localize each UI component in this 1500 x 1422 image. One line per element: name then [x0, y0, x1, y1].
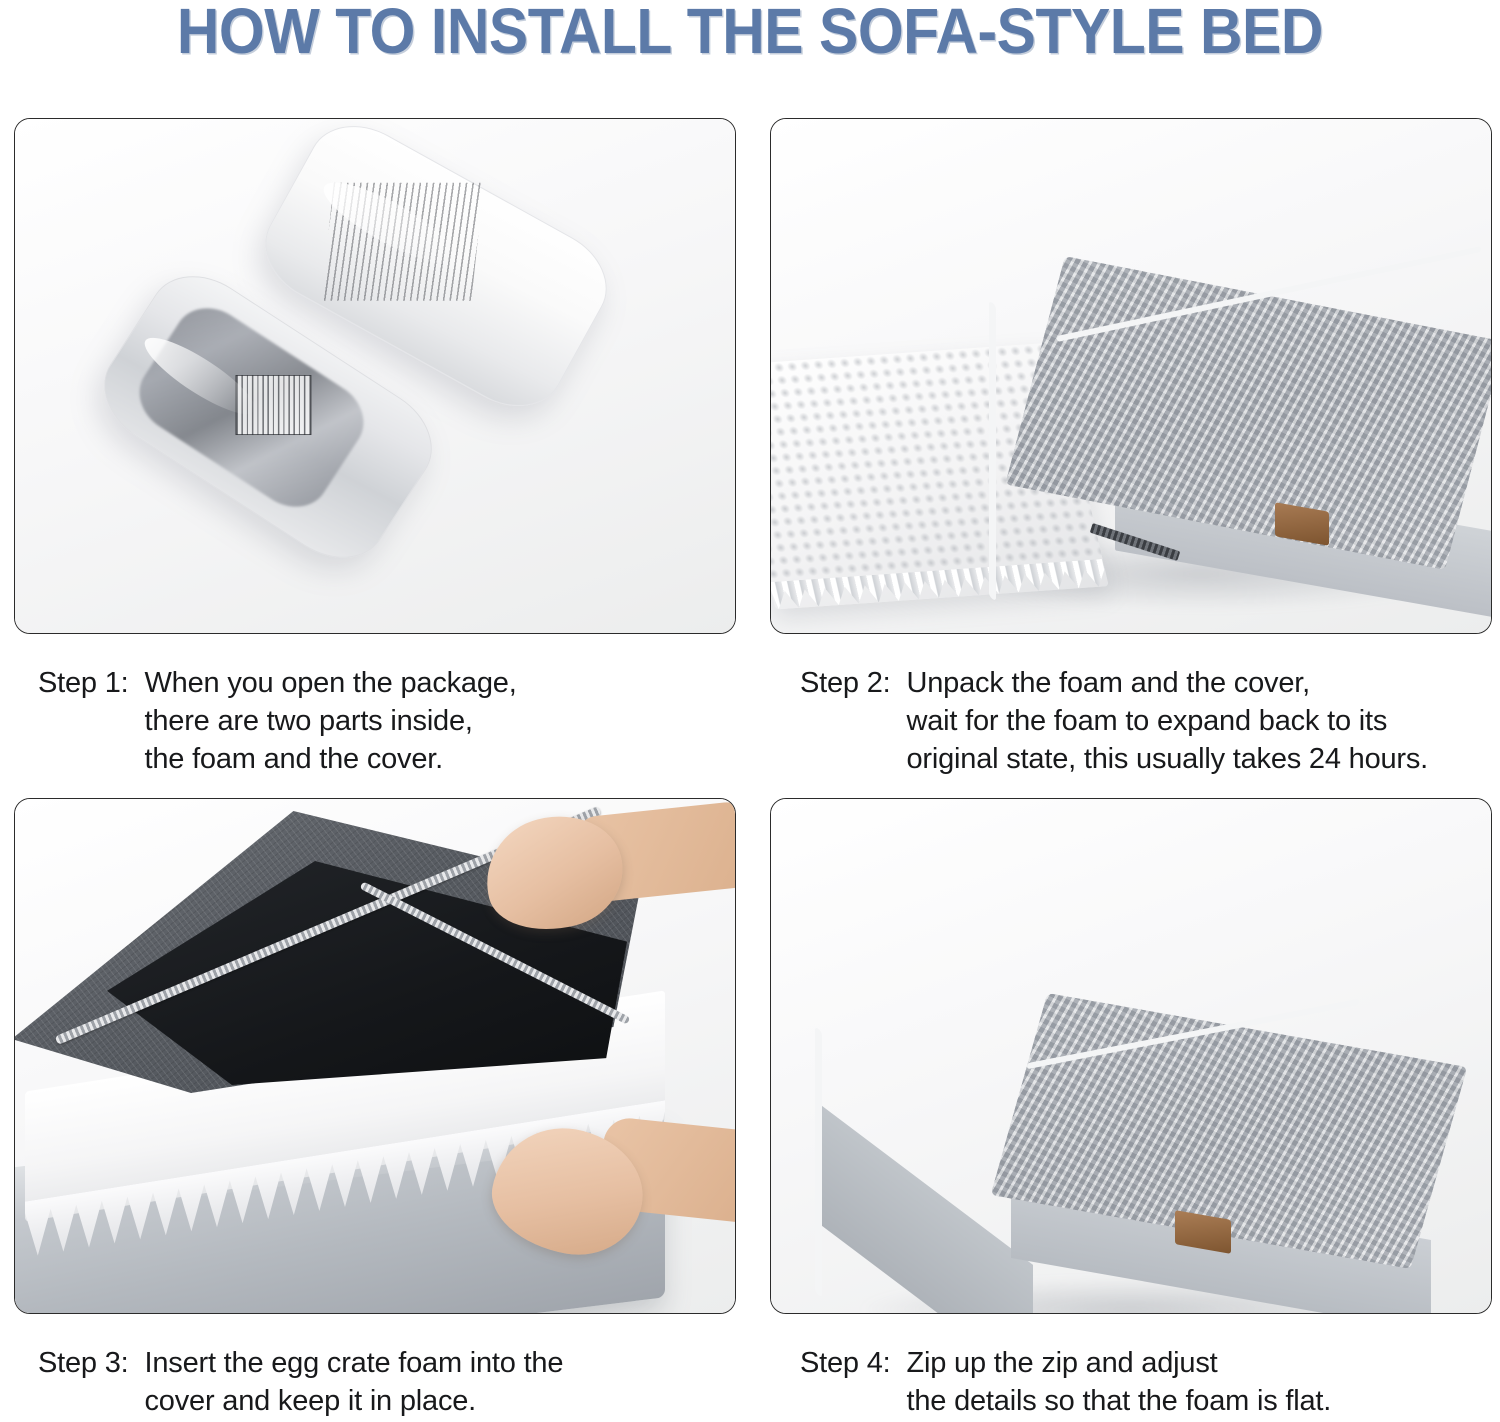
page-title: HOW TO INSTALL THE SOFA-STYLE BED	[177, 0, 1323, 62]
step-2-text: Unpack the foam and the cover, wait for …	[907, 664, 1429, 778]
step-2-caption: Step 2: Unpack the foam and the cover, w…	[764, 664, 1486, 778]
step-4-text: Zip up the zip and adjust the details so…	[907, 1344, 1332, 1420]
step-2-label: Step 2:	[800, 664, 907, 702]
foam-and-cover-illustration	[771, 119, 1491, 633]
side-bolster	[823, 997, 901, 1314]
step-1-label: Step 1:	[38, 664, 145, 702]
step-block-1: Step 1: When you open the package, there…	[0, 112, 750, 792]
step-block-2: Step 2: Unpack the foam and the cover, w…	[750, 112, 1500, 792]
step-3-text: Insert the egg crate foam into the cover…	[145, 1344, 564, 1420]
step-4-photo	[770, 798, 1492, 1314]
page-header: HOW TO INSTALL THE SOFA-STYLE BED	[0, 0, 1500, 100]
finished-bed-illustration	[771, 799, 1491, 1313]
step-3-label: Step 3:	[38, 1344, 145, 1382]
insert-foam-illustration	[15, 799, 735, 1313]
packaging-rolls-illustration	[15, 119, 735, 633]
step-3-photo	[14, 798, 736, 1314]
piping-trim	[989, 300, 996, 601]
step-2-photo	[770, 118, 1492, 634]
step-block-3: Step 3: Insert the egg crate foam into t…	[0, 792, 750, 1422]
side-bolster	[997, 274, 1067, 625]
step-1-photo	[14, 118, 736, 634]
step-block-4: Step 4: Zip up the zip and adjust the de…	[750, 792, 1500, 1422]
steps-grid: Step 1: When you open the package, there…	[0, 112, 1500, 1422]
step-4-label: Step 4:	[800, 1344, 907, 1382]
step-4-caption: Step 4: Zip up the zip and adjust the de…	[764, 1344, 1486, 1420]
piping-trim	[815, 1026, 822, 1297]
step-1-text: When you open the package, there are two…	[145, 664, 517, 778]
step-1-caption: Step 1: When you open the package, there…	[14, 664, 736, 778]
step-3-caption: Step 3: Insert the egg crate foam into t…	[14, 1344, 736, 1420]
bed-group	[805, 949, 1465, 1289]
bed-cover-group	[939, 207, 1492, 607]
